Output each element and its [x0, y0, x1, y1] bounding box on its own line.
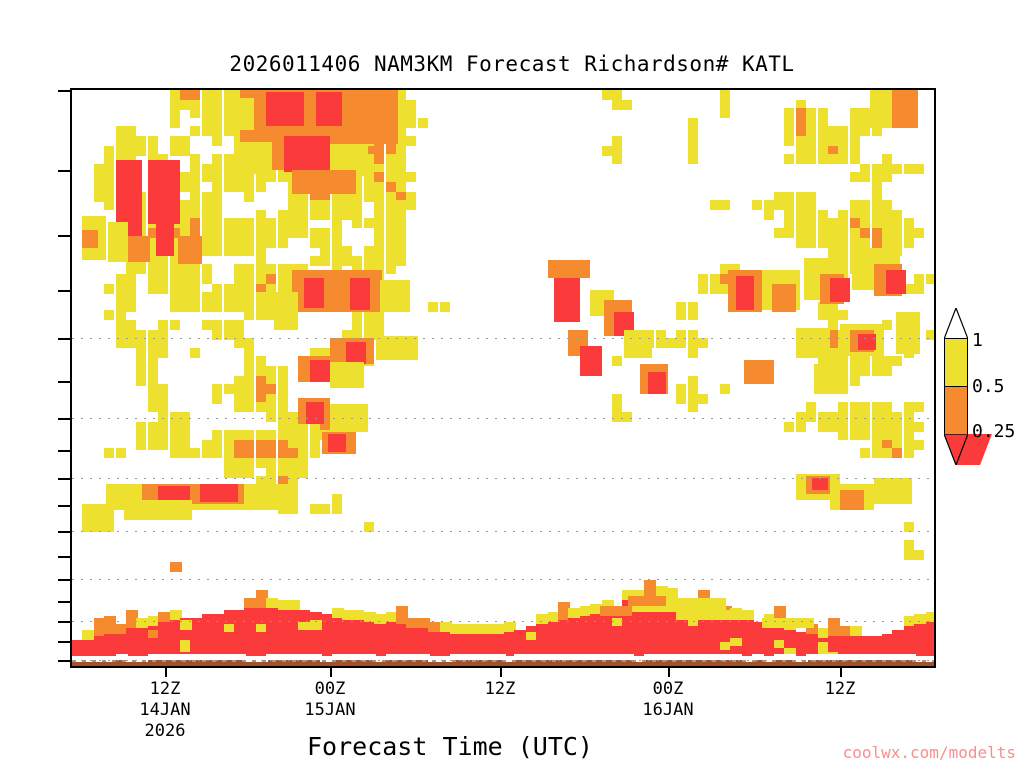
- colorbar-label-0p25: 0.25: [972, 421, 1015, 442]
- chart-root: 2026011406 NAM3KM Forecast Richardson# K…: [0, 0, 1024, 768]
- y-tick-mark: [58, 579, 70, 581]
- y-tick-mark: [58, 170, 70, 172]
- x-tick-line: 12Z: [440, 679, 560, 700]
- y-tick-mark: [58, 418, 70, 420]
- y-tick-mark: [58, 290, 70, 292]
- x-tick-label-2: 12Z: [440, 679, 560, 700]
- plot-inner: [72, 90, 934, 666]
- x-tick-mark: [330, 668, 332, 677]
- x-tick-line: 16JAN: [608, 700, 728, 721]
- x-tick-label-4: 12Z: [780, 679, 900, 700]
- colorbar-segment-yellow: [945, 339, 967, 387]
- y-tick-mark: [58, 660, 70, 662]
- y-tick-mark: [58, 556, 70, 558]
- x-tick-line: 12Z: [780, 679, 900, 700]
- colorbar-arrow-up: [944, 308, 992, 339]
- y-tick-mark: [58, 641, 70, 643]
- x-tick-line: 14JAN: [105, 700, 225, 721]
- y-tick-mark: [58, 338, 70, 340]
- y-tick-mark: [58, 478, 70, 480]
- x-tick-mark: [668, 668, 670, 677]
- x-tick-line: 15JAN: [270, 700, 390, 721]
- y-tick-mark: [58, 621, 70, 623]
- y-tick-mark: [58, 450, 70, 452]
- page-title: 2026011406 NAM3KM Forecast Richardson# K…: [0, 52, 1024, 76]
- colorbar: [944, 338, 968, 434]
- x-axis-title: Forecast Time (UTC): [0, 732, 900, 761]
- x-tick-line: 00Z: [270, 679, 390, 700]
- x-tick-label-3: 00Z16JAN: [608, 679, 728, 721]
- colorbar-label-0p5: 0.5: [972, 376, 1005, 397]
- y-tick-mark: [58, 505, 70, 507]
- watermark-link[interactable]: coolwx.com/modelts: [843, 743, 1016, 762]
- x-tick-line: 00Z: [608, 679, 728, 700]
- y-tick-mark: [58, 601, 70, 603]
- x-tick-line: 12Z: [105, 679, 225, 700]
- x-tick-mark: [165, 668, 167, 677]
- colorbar-segment-orange: [945, 387, 967, 435]
- y-tick-mark: [58, 235, 70, 237]
- y-tick-mark: [58, 90, 70, 92]
- colorbar-label-1: 1: [972, 330, 983, 351]
- x-tick-mark: [500, 668, 502, 677]
- x-tick-mark: [840, 668, 842, 677]
- y-tick-mark: [58, 381, 70, 383]
- richardson-heatmap-canvas: [72, 90, 934, 666]
- plot-area: [70, 88, 936, 668]
- y-tick-mark: [58, 531, 70, 533]
- x-tick-label-1: 00Z15JAN: [270, 679, 390, 721]
